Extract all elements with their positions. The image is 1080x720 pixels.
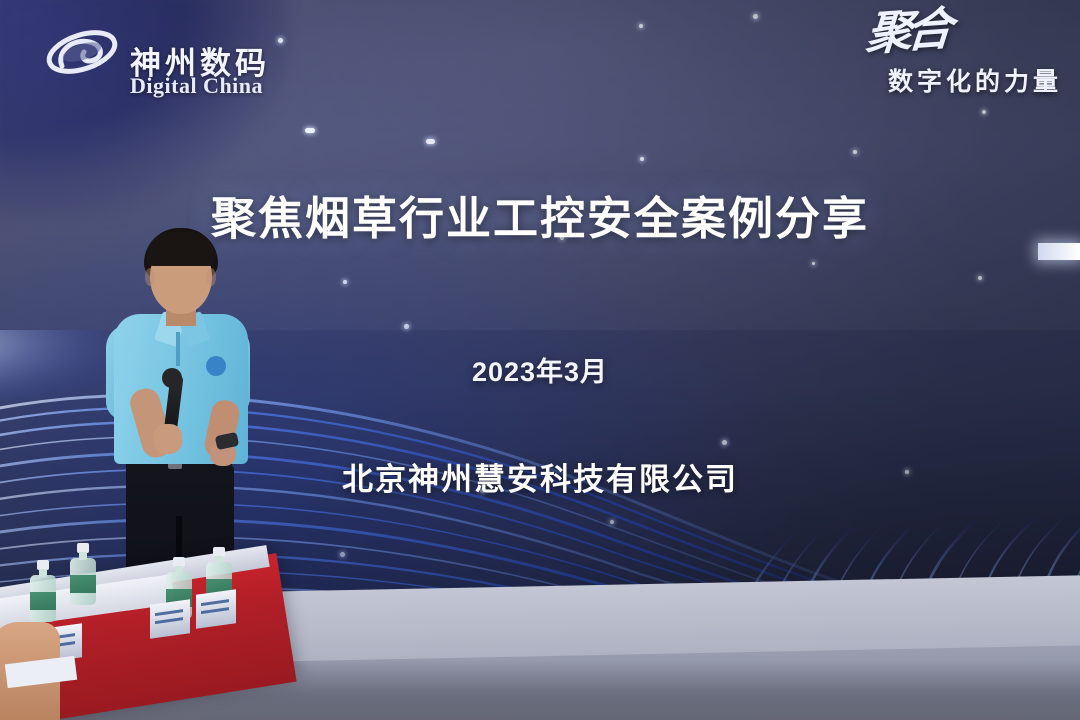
stage-light-reflection (1038, 243, 1080, 260)
particle-dot (340, 552, 345, 557)
speaker-shirt-logo (206, 356, 226, 376)
particle-dot (305, 128, 315, 133)
microphone-head-icon (162, 368, 182, 388)
name-card (196, 589, 236, 629)
slogan-brush-text: 聚合 (780, 8, 948, 62)
slogan-subtitle: 数字化的力量 (782, 62, 1062, 98)
speaker-ear-right (206, 268, 216, 286)
particle-dot (978, 276, 982, 280)
particle-dot (610, 520, 614, 524)
screenshot-root: 神州数码 Digital China 聚合 数字化的力量 聚焦烟草行业工控安全案… (0, 0, 1080, 720)
speaker-left-hand (154, 424, 182, 454)
name-card-line (201, 599, 229, 606)
name-card-line (155, 609, 183, 616)
name-card (150, 599, 190, 639)
particle-dot (722, 440, 727, 445)
speaker-ear-left (145, 268, 155, 286)
digital-china-english-name: Digital China (130, 73, 263, 99)
particle-dot (426, 139, 435, 144)
particle-dot (343, 280, 347, 284)
particle-dot (853, 150, 857, 154)
water-bottle (30, 560, 56, 622)
digital-china-logo: 神州数码 Digital China (42, 18, 302, 100)
bottle-label (70, 575, 96, 593)
digital-china-swirl-icon (42, 22, 122, 90)
name-card-line (201, 607, 229, 614)
event-slogan: 聚合 数字化的力量 (782, 14, 1062, 118)
particle-dot (812, 262, 815, 265)
particle-dot (753, 14, 758, 19)
particle-dot (640, 157, 644, 161)
water-bottle (70, 543, 96, 605)
speaker-hair-top (146, 232, 216, 266)
particle-dot (404, 324, 409, 329)
speaker-shirt-placket (176, 332, 180, 366)
bottle-label (30, 592, 56, 610)
particle-dot (639, 24, 643, 28)
name-card-line (155, 617, 183, 624)
